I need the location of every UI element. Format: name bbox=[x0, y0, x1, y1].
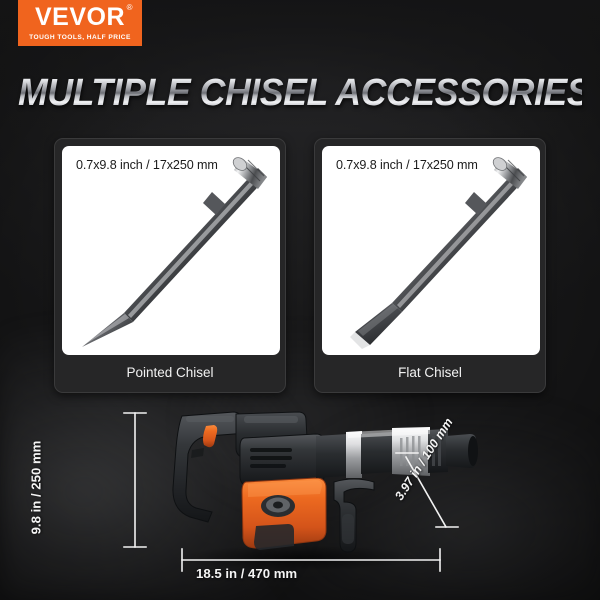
brand-wordmark: VEVOR® bbox=[35, 5, 125, 30]
chisel-card-label: Pointed Chisel bbox=[55, 353, 285, 392]
dimension-width-label: 18.5 in / 470 mm bbox=[196, 566, 297, 581]
chisel-card-label: Flat Chisel bbox=[315, 353, 545, 392]
brand-name: VEVOR bbox=[35, 3, 125, 31]
chisel-image-panel: 0.7x9.8 inch / 17x250 mm bbox=[322, 146, 540, 355]
dimension-annotations bbox=[0, 395, 600, 600]
page-title: MULTIPLE CHISEL ACCESSORIES bbox=[18, 74, 582, 112]
product-marketing-image: VEVOR® TOUGH TOOLS, HALF PRICE MULTIPLE … bbox=[0, 0, 600, 600]
dimension-height-label: 9.8 in / 250 mm bbox=[29, 428, 44, 548]
registered-mark-icon: ® bbox=[127, 4, 133, 12]
chisel-shaft-highlight bbox=[128, 171, 263, 318]
brand-tagline: TOUGH TOOLS, HALF PRICE bbox=[29, 34, 131, 41]
pointed-chisel-icon bbox=[62, 146, 280, 355]
chisel-card-flat: 0.7x9.8 inch / 17x250 mm bbox=[314, 138, 546, 393]
chisel-card-pointed: 0.7x9.8 inch / 17x250 mm bbox=[54, 138, 286, 393]
chisel-shaft-highlight bbox=[397, 171, 523, 308]
chisel-image-panel: 0.7x9.8 inch / 17x250 mm bbox=[62, 146, 280, 355]
vevor-logo: VEVOR® TOUGH TOOLS, HALF PRICE bbox=[18, 0, 142, 46]
flat-chisel-icon bbox=[322, 146, 540, 355]
